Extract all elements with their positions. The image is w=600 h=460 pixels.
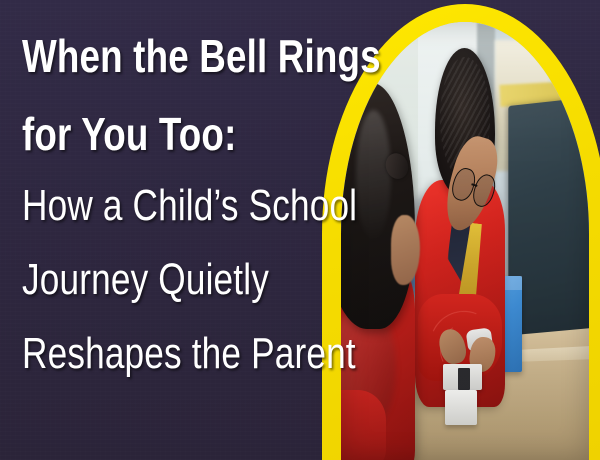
classroom-photo: [341, 22, 589, 460]
electronics-kit-box: [445, 390, 477, 425]
headline-line-1: When the Bell Rings: [22, 30, 278, 82]
headline-block: When the Bell Rings for You Too: How a C…: [22, 30, 342, 378]
headline-line-5: Reshapes the Parent: [22, 330, 278, 378]
student-left-hair-shine: [356, 110, 391, 241]
electronics-kit-chip: [458, 368, 470, 390]
photo-scene: [341, 22, 589, 460]
headline-line-4: Journey Quietly: [22, 256, 278, 304]
student-left-sleeve: [341, 390, 386, 460]
headline-line-3: How a Child’s School: [22, 182, 278, 230]
headline-line-2: for You Too:: [22, 108, 278, 160]
poster-canvas: When the Bell Rings for You Too: How a C…: [0, 0, 600, 460]
